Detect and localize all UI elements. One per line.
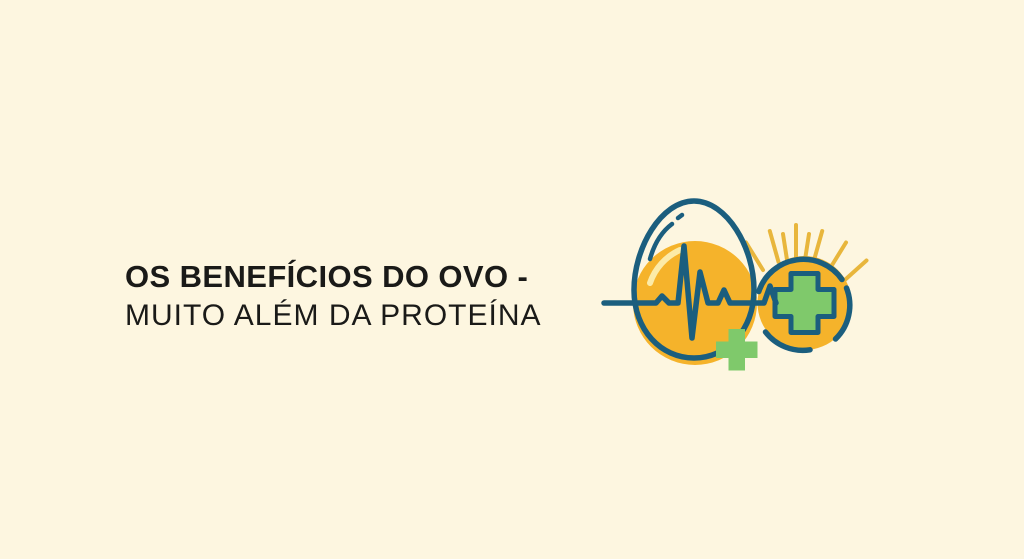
headline-primary: OS BENEFÍCIOS DO OVO -	[125, 258, 565, 296]
headline-block: OS BENEFÍCIOS DO OVO - MUITO ALÉM DA PRO…	[125, 258, 565, 336]
banner-canvas: OS BENEFÍCIOS DO OVO - MUITO ALÉM DA PRO…	[0, 0, 1024, 559]
headline-secondary: MUITO ALÉM DA PROTEÍNA	[125, 296, 565, 336]
egg-health-illustration	[588, 186, 878, 382]
